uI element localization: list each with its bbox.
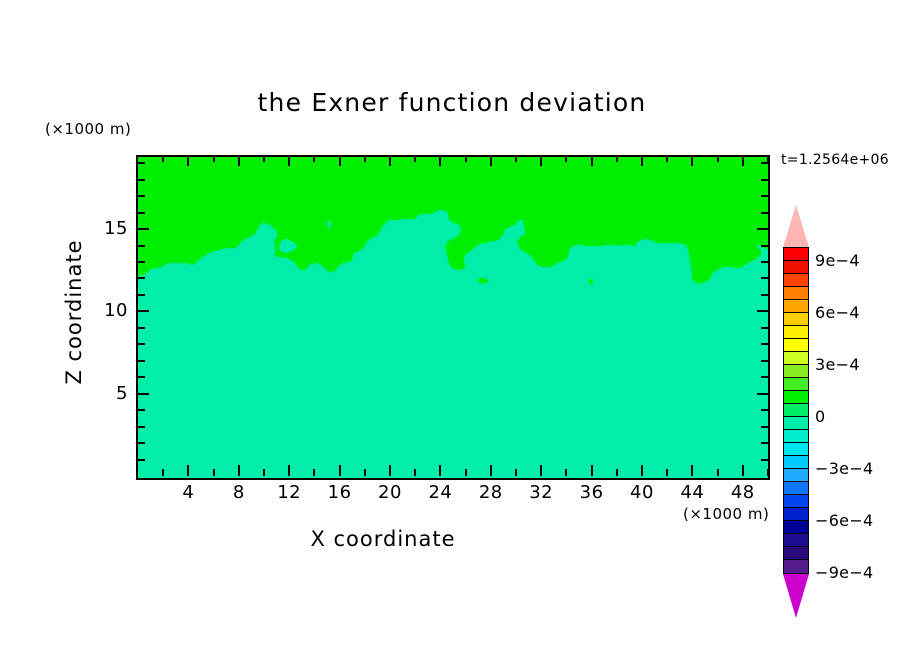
x-tick-label: 8 — [217, 482, 261, 503]
timestamp-annotation: t=1.2564e+06 — [781, 152, 889, 168]
colorbar-tick-label: 3e−4 — [815, 355, 860, 374]
x-tick-label: 36 — [570, 482, 614, 503]
colorbar-cap-bottom-arrow — [783, 574, 809, 618]
x-tick-label: 4 — [166, 482, 210, 503]
colorbar-tick-label: −6e−4 — [815, 511, 874, 530]
colorbar-band — [784, 534, 808, 547]
x-tick-label: 20 — [368, 482, 412, 503]
colorbar-tick-label: −3e−4 — [815, 459, 874, 478]
x-tick-label: 40 — [620, 482, 664, 503]
x-tick-label: 28 — [469, 482, 513, 503]
y-tick-label: 10 — [84, 300, 128, 321]
colorbar-tick-label: 6e−4 — [815, 303, 860, 322]
colorbar-tick-label: −9e−4 — [815, 563, 874, 582]
colorbar-label-layer: 9e−46e−43e−40−3e−4−6e−4−9e−4 — [783, 205, 904, 525]
x-tick-label: 48 — [721, 482, 765, 503]
x-tick-label: 12 — [267, 482, 311, 503]
x-tick-label: 24 — [418, 482, 462, 503]
colorbar-tick-label: 9e−4 — [815, 251, 860, 270]
x-tick-label: 16 — [318, 482, 362, 503]
y-tick-label: 15 — [84, 218, 128, 239]
y-tick-label: 5 — [84, 383, 128, 404]
x-tick-label: 44 — [670, 482, 714, 503]
tick-label-layer: 481216202428323640444851015 — [0, 0, 904, 654]
colorbar-band — [784, 547, 808, 560]
colorbar-tick-label: 0 — [815, 407, 825, 426]
colorbar-band — [784, 560, 808, 573]
x-tick-label: 32 — [519, 482, 563, 503]
